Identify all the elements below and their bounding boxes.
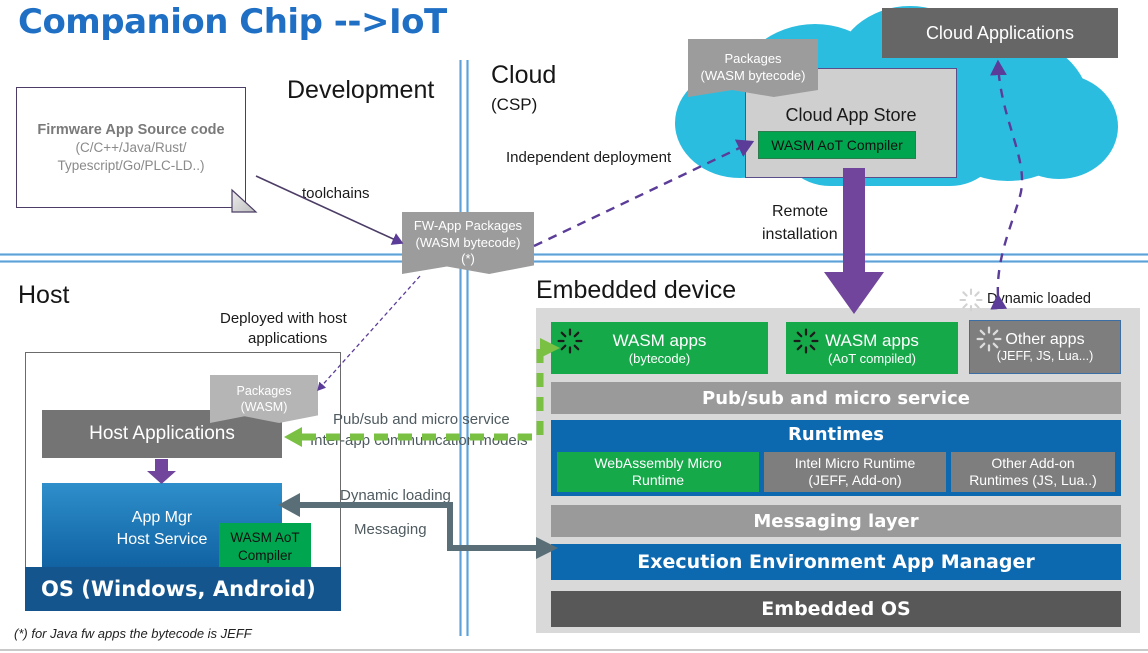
slide-canvas: Companion Chip -->IoT Development Cloud … bbox=[0, 0, 1148, 653]
fw-packages-line1: FW-App Packages bbox=[414, 218, 522, 235]
cloud-packages-line1: Packages bbox=[724, 51, 781, 68]
cloud-packages-line2: (WASM bytecode) bbox=[701, 68, 806, 85]
label-interapp-note: Inter-app communication models bbox=[310, 432, 528, 449]
divider-horizontal-1 bbox=[0, 253, 1148, 256]
host-packages-line1: Packages bbox=[237, 383, 292, 399]
runtime-chip-2-line2: Runtimes (JS, Lua..) bbox=[969, 472, 1097, 490]
fw-packages-line3: (*) bbox=[461, 251, 475, 268]
host-os-box: OS (Windows, Android) bbox=[25, 567, 341, 611]
embedded-app-1-sub: (AoT compiled) bbox=[828, 351, 916, 366]
embedded-app-1-title: WASM apps bbox=[825, 331, 919, 351]
runtime-chip-0-line1: WebAssembly Micro bbox=[594, 455, 721, 473]
section-heading-development: Development bbox=[287, 76, 434, 105]
dynamic-loaded-icon bbox=[976, 326, 1002, 352]
runtime-chip-wasm-micro: WebAssembly Micro Runtime bbox=[557, 452, 759, 492]
footnote: (*) for Java fw apps the bytecode is JEF… bbox=[14, 626, 252, 641]
host-applications-box: Host Applications bbox=[42, 410, 282, 458]
bottom-rule bbox=[0, 649, 1148, 651]
firmware-source-languages-line1: (C/C++/Java/Rust/ bbox=[75, 139, 186, 157]
firmware-source-box: Firmware App Source code (C/C++/Java/Rus… bbox=[16, 87, 246, 208]
app-mgr-line2: Host Service bbox=[117, 529, 208, 551]
wasm-aot-compiler-chip-host: WASM AoT Compiler bbox=[219, 523, 311, 571]
dynamic-loaded-icon bbox=[793, 328, 819, 354]
execution-env-app-manager-band: Execution Environment App Manager bbox=[551, 544, 1121, 580]
divider-horizontal-2 bbox=[0, 260, 1148, 263]
cloud-app-store-title: Cloud App Store bbox=[785, 105, 916, 126]
label-deployed-line1: Deployed with host bbox=[220, 310, 347, 327]
divider-vertical-bottom bbox=[459, 262, 462, 636]
runtime-chip-1-line2: (JEFF, Add-on) bbox=[808, 472, 901, 490]
runtime-chip-2-line1: Other Add-on bbox=[991, 455, 1074, 473]
label-toolchains: toolchains bbox=[302, 185, 370, 202]
firmware-source-languages-line2: Typescript/Go/PLC-LD..) bbox=[57, 157, 204, 175]
embedded-app-2-sub: (JEFF, JS, Lua...) bbox=[997, 349, 1094, 363]
wasm-aot-compiler-chip-cloud: WASM AoT Compiler bbox=[758, 131, 916, 159]
page-title: Companion Chip -->IoT bbox=[18, 2, 447, 42]
cloud-applications-box: Cloud Applications bbox=[882, 8, 1118, 58]
divider-vertical-bottom-2 bbox=[466, 262, 469, 636]
label-deployed-line2: applications bbox=[248, 330, 327, 347]
section-heading-cloud: Cloud bbox=[491, 61, 556, 90]
embedded-os-band: Embedded OS bbox=[551, 591, 1121, 627]
label-independent-deployment: Independent deployment bbox=[506, 149, 671, 166]
dynamic-loaded-legend-label: Dynamic loaded bbox=[987, 291, 1091, 307]
cloud-packages-callout: Packages (WASM bytecode) bbox=[688, 39, 818, 97]
label-dynamic-loading: Dynamic loading bbox=[340, 487, 451, 504]
embedded-app-wasm-bytecode: WASM apps (bytecode) bbox=[551, 322, 768, 374]
section-heading-host: Host bbox=[18, 281, 69, 310]
runtime-chip-0-line2: Runtime bbox=[632, 472, 684, 490]
label-remote-line2: installation bbox=[762, 226, 838, 244]
pubsub-band: Pub/sub and micro service bbox=[551, 382, 1121, 414]
section-heading-embedded-device: Embedded device bbox=[536, 276, 736, 305]
runtime-chip-other-addon: Other Add-on Runtimes (JS, Lua..) bbox=[951, 452, 1115, 492]
firmware-source-title: Firmware App Source code bbox=[37, 121, 224, 139]
runtime-chip-1-line1: Intel Micro Runtime bbox=[795, 455, 916, 473]
host-packages-line2: (WASM) bbox=[241, 399, 288, 415]
label-remote-line1: Remote bbox=[772, 203, 828, 221]
embedded-app-2-title: Other apps bbox=[1005, 331, 1084, 349]
fw-app-packages-callout: FW-App Packages (WASM bytecode) (*) bbox=[402, 212, 534, 274]
label-messaging: Messaging bbox=[354, 521, 427, 538]
fw-packages-line2: (WASM bytecode) bbox=[416, 235, 521, 252]
section-subheading-csp: (CSP) bbox=[491, 95, 537, 115]
runtime-chip-intel-micro: Intel Micro Runtime (JEFF, Add-on) bbox=[764, 452, 946, 492]
embedded-app-0-title: WASM apps bbox=[613, 331, 707, 351]
host-aot-line2: Compiler bbox=[238, 547, 292, 565]
dynamic-loaded-legend-icon bbox=[959, 288, 983, 312]
host-packages-callout: Packages (WASM) bbox=[210, 375, 318, 423]
app-mgr-line1: App Mgr bbox=[132, 507, 192, 529]
embedded-app-0-sub: (bytecode) bbox=[629, 351, 690, 366]
dynamic-loaded-icon bbox=[557, 328, 583, 354]
label-pubsub-note: Pub/sub and micro service bbox=[333, 411, 510, 428]
messaging-layer-band: Messaging layer bbox=[551, 505, 1121, 537]
host-aot-line1: WASM AoT bbox=[230, 529, 299, 547]
